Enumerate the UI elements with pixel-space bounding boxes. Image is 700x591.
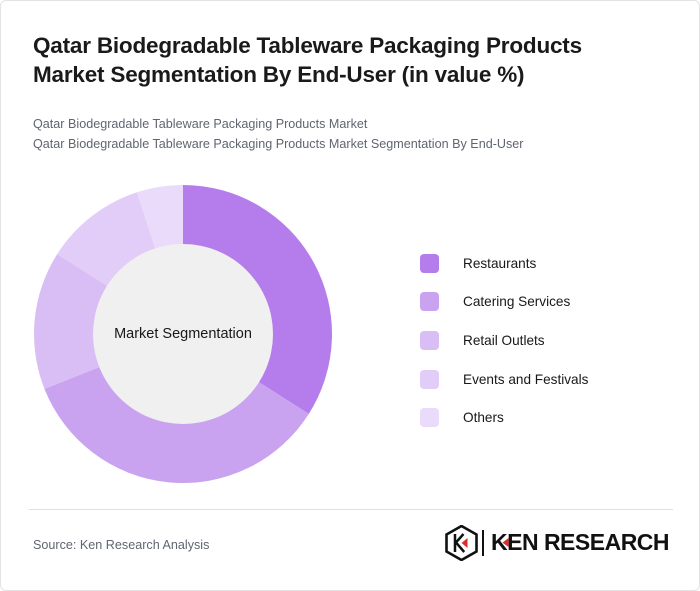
legend-item[interactable]: Others xyxy=(420,398,670,437)
ken-research-logo-mark-icon xyxy=(445,525,478,561)
donut-chart: Market Segmentation xyxy=(34,185,332,483)
svg-text:KEN RESEARCH: KEN RESEARCH xyxy=(491,530,669,555)
chart-subtitle: Qatar Biodegradable Tableware Packaging … xyxy=(33,114,673,155)
legend-swatch xyxy=(420,408,439,427)
legend-swatch xyxy=(420,331,439,350)
source-note: Source: Ken Research Analysis xyxy=(33,538,209,552)
footer-divider xyxy=(29,509,673,510)
donut-svg xyxy=(34,185,332,483)
legend-item[interactable]: Events and Festivals xyxy=(420,360,670,399)
chart-legend: RestaurantsCatering ServicesRetail Outle… xyxy=(420,244,670,437)
subtitle-line-1: Qatar Biodegradable Tableware Packaging … xyxy=(33,114,673,134)
logo-separator xyxy=(482,530,484,556)
subtitle-line-2: Qatar Biodegradable Tableware Packaging … xyxy=(33,134,673,154)
legend-swatch xyxy=(420,370,439,389)
ken-research-logo: KEN RESEARCH xyxy=(445,525,700,561)
ken-research-wordmark: KEN RESEARCH xyxy=(491,530,700,556)
legend-label: Others xyxy=(463,410,504,425)
legend-item[interactable]: Restaurants xyxy=(420,244,670,283)
legend-label: Catering Services xyxy=(463,294,570,309)
chart-card: Qatar Biodegradable Tableware Packaging … xyxy=(0,0,700,591)
legend-label: Restaurants xyxy=(463,256,536,271)
legend-swatch xyxy=(420,254,439,273)
legend-swatch xyxy=(420,292,439,311)
legend-item[interactable]: Retail Outlets xyxy=(420,321,670,360)
legend-label: Events and Festivals xyxy=(463,372,588,387)
legend-item[interactable]: Catering Services xyxy=(420,283,670,322)
donut-hole xyxy=(93,244,273,424)
page-title: Qatar Biodegradable Tableware Packaging … xyxy=(33,31,658,90)
legend-label: Retail Outlets xyxy=(463,333,545,348)
